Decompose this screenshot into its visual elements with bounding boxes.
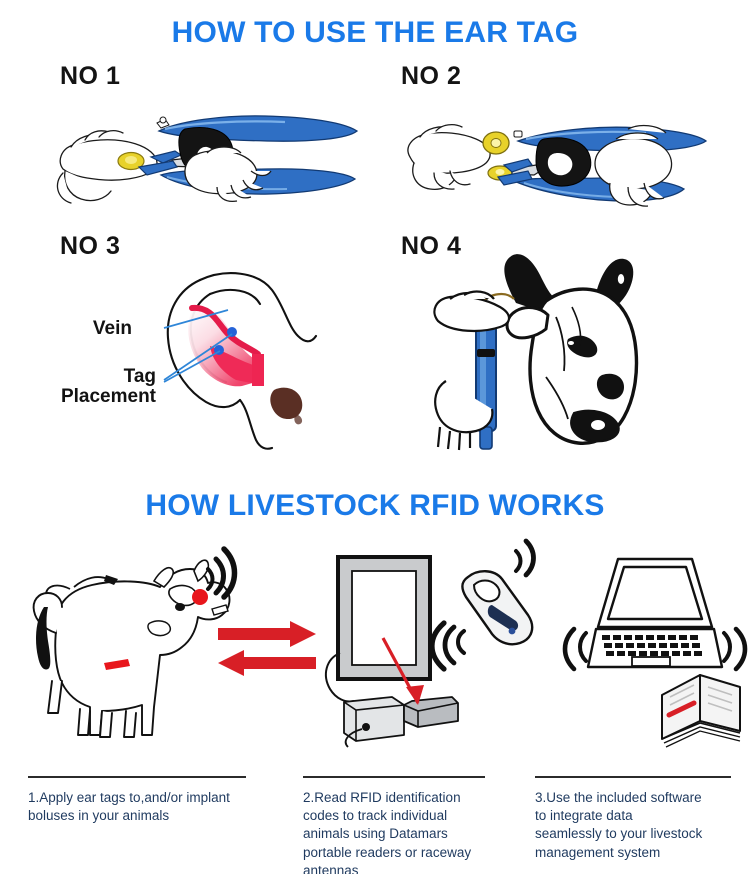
cow-eye xyxy=(175,603,185,611)
yellow-tag-front-icon xyxy=(483,132,509,154)
caption-divider-1 xyxy=(28,776,246,778)
caption-text-1: 1.Apply ear tags to,and/or implant bolus… xyxy=(28,789,246,825)
caption-column-2: 2.Read RFID identification codes to trac… xyxy=(303,776,485,874)
vein-label: Vein xyxy=(93,318,132,339)
page-title-how-to-use-ear-tag: HOW TO USE THE EAR TAG xyxy=(0,16,750,50)
caption-divider-3 xyxy=(535,776,731,778)
cow-head-icon xyxy=(504,254,636,443)
laptop-signal-waves-right xyxy=(724,629,745,669)
open-book-icon xyxy=(662,675,740,747)
illustration-step-4 xyxy=(420,245,720,455)
caption-text-2: 2.Read RFID identification codes to trac… xyxy=(303,789,485,874)
laptop-keyboard xyxy=(602,635,702,656)
laptop-trackpad xyxy=(632,657,670,666)
arrow-left xyxy=(218,650,316,676)
caption-column-1: 1.Apply ear tags to,and/or implant bolus… xyxy=(28,776,246,825)
tagged-cow-icon xyxy=(34,549,235,737)
laptop-icon xyxy=(588,559,722,667)
nose-muzzle-icon xyxy=(270,388,302,425)
step-label-no1: NO 1 xyxy=(60,62,120,91)
raceway-antenna-panel-icon xyxy=(326,557,430,702)
arrow-right xyxy=(218,621,316,647)
page-title-how-livestock-rfid-works: HOW LIVESTOCK RFID WORKS xyxy=(0,489,750,523)
illustration-step-2 xyxy=(400,95,730,225)
laptop-signal-waves-left xyxy=(565,629,586,669)
step-label-no2: NO 2 xyxy=(401,62,461,91)
left-hand-with-two-tags-icon xyxy=(408,125,490,190)
tag-placement-label-line1: Tag xyxy=(124,366,156,387)
ear-tag-rfid-dot xyxy=(192,589,208,605)
vein-stub xyxy=(252,354,264,386)
illustration-step-1 xyxy=(55,95,365,225)
bidirectional-arrows xyxy=(218,621,316,676)
caption-column-3: 3.Use the included software to integrate… xyxy=(535,776,731,862)
tag-placement-label-line2: Placement xyxy=(61,386,157,407)
reader-signal-waves-upper xyxy=(516,541,534,575)
reader-signal-waves-lower xyxy=(432,623,464,669)
illustration-step-3: Vein Tag Placement xyxy=(60,250,370,450)
antenna-reader-module-icon xyxy=(404,697,458,727)
handheld-rfid-reader-icon xyxy=(432,541,534,669)
neck-strap xyxy=(46,586,70,593)
infographic-page: HOW TO USE THE EAR TAG NO 1 NO 2 NO 3 NO… xyxy=(0,0,750,874)
caption-divider-2 xyxy=(303,776,485,778)
operator-hands-icon xyxy=(434,292,509,450)
caption-text-3: 3.Use the included software to integrate… xyxy=(535,789,731,862)
rfid-workflow-diagram xyxy=(0,535,750,780)
antenna-controller-box-icon xyxy=(344,697,404,747)
